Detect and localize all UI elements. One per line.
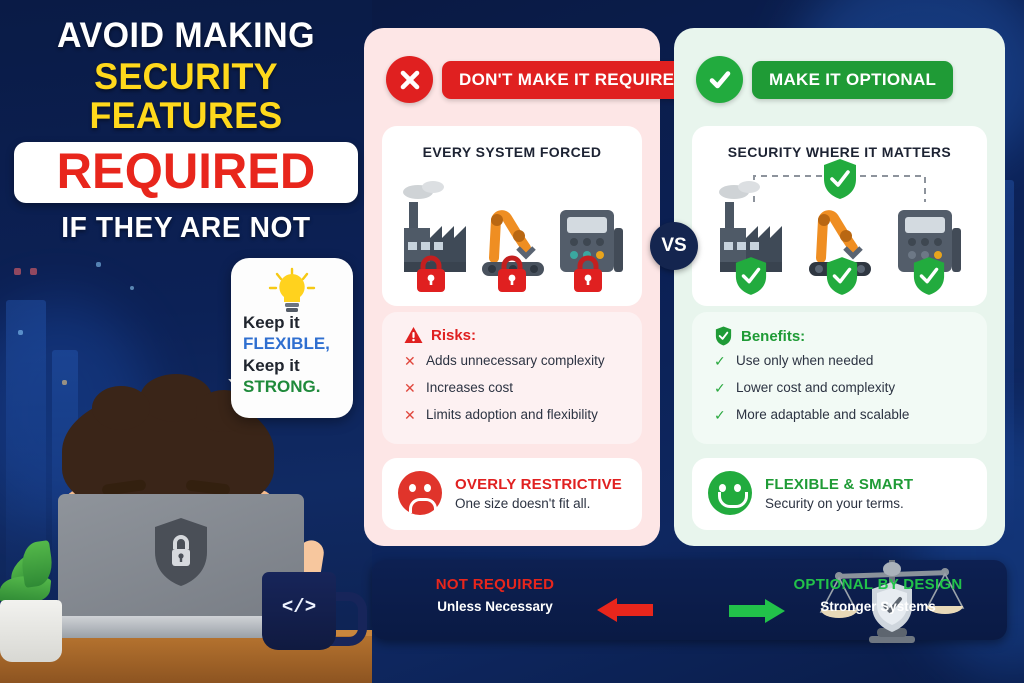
happy-face-icon	[708, 471, 752, 515]
list-item-label: Limits adoption and flexibility	[426, 406, 598, 424]
list-item-label: Use only when needed	[736, 352, 873, 370]
panel-right-cta-title: FLEXIBLE & SMART	[765, 476, 913, 493]
robot-arm-unit-shielded	[801, 176, 879, 296]
infographic-canvas: AVOID MAKING SECURITY FEATURES REQUIRED …	[0, 0, 1024, 683]
warning-triangle-icon	[404, 326, 423, 344]
speech-bubble-text: Keep it FLEXIBLE, Keep it STRONG.	[243, 312, 347, 398]
panel-left-tag-label: DON'T MAKE IT REQUIRED	[442, 61, 704, 99]
check-circle-icon	[696, 56, 743, 103]
panel-left-illustration-box: EVERY SYSTEM FORCED	[382, 126, 642, 306]
banner-right-block: OPTIONAL BY DESIGN Stronger Systems	[773, 576, 983, 614]
headline-block: AVOID MAKING SECURITY FEATURES REQUIRED …	[14, 18, 358, 245]
green-shield-check-icon	[825, 256, 859, 296]
list-item-label: More adaptable and scalable	[736, 406, 909, 424]
lightbulb-icon	[263, 266, 321, 316]
panel-right-tag-row: MAKE IT OPTIONAL	[696, 56, 953, 103]
list-item-label: Adds unnecessary complexity	[426, 352, 605, 370]
headline-line-1: AVOID MAKING	[19, 18, 353, 54]
shield-lock-icon	[152, 516, 210, 588]
bubble-line-2: FLEXIBLE,	[243, 333, 347, 354]
list-item: ✓ Lower cost and complexity	[714, 379, 977, 398]
banner-left-subtitle: Unless Necessary	[400, 599, 590, 614]
sad-face-icon	[398, 471, 442, 515]
bubble-line-3: Keep it	[243, 355, 347, 376]
headline-line-2: SECURITY FEATURES	[19, 58, 353, 136]
green-shield-check-icon	[912, 256, 946, 296]
check-mark-icon: ✓	[714, 352, 726, 371]
robot-arm-unit-locked	[474, 176, 552, 296]
panel-right-cta-subtitle: Security on your terms.	[765, 496, 913, 511]
check-mark-icon: ✓	[714, 406, 726, 425]
control-panel-unit-locked	[552, 176, 630, 296]
green-shield-check-icon	[734, 256, 768, 296]
headline-line-4: IF THEY ARE NOT	[19, 212, 353, 245]
x-circle-icon	[386, 56, 433, 103]
panel-left-cta-box: OVERLY RESTRICTIVE One size doesn't fit …	[382, 458, 642, 530]
panel-left-list-title: Risks:	[431, 327, 476, 344]
panel-left-list-header: Risks:	[404, 326, 476, 344]
potted-plant-icon	[0, 600, 62, 662]
list-item: ✓ More adaptable and scalable	[714, 406, 977, 425]
panel-right-illustration-box: SECURITY WHERE IT MATTERS	[692, 126, 987, 306]
list-item: ✕ Limits adoption and flexibility	[404, 406, 632, 425]
list-item-label: Lower cost and complexity	[736, 379, 895, 397]
panel-left-tag-row: DON'T MAKE IT REQUIRED	[386, 56, 704, 103]
banner-right-title: OPTIONAL BY DESIGN	[773, 576, 983, 593]
vs-badge: VS	[650, 222, 698, 270]
x-mark-icon: ✕	[404, 379, 416, 398]
panel-left-risks-box: Risks: ✕ Adds unnecessary complexity ✕ I…	[382, 312, 642, 444]
red-padlock-icon	[570, 254, 606, 294]
panel-left-list-items: ✕ Adds unnecessary complexity ✕ Increase…	[404, 352, 632, 433]
list-item: ✕ Increases cost	[404, 379, 632, 398]
headline-line-3: REQUIRED	[25, 147, 346, 196]
panel-right-list-header: Benefits:	[714, 326, 805, 346]
mug-code-text: </>	[262, 596, 336, 618]
control-panel-unit-shielded	[890, 176, 968, 296]
factory-unit-locked	[396, 176, 474, 296]
panel-right-tag-label: MAKE IT OPTIONAL	[752, 61, 953, 99]
x-mark-icon: ✕	[404, 406, 416, 425]
headline-highlight-band: REQUIRED	[14, 142, 358, 203]
panel-right-cta-box: FLEXIBLE & SMART Security on your terms.	[692, 458, 987, 530]
shield-check-icon	[714, 326, 733, 346]
panel-left-cta-subtitle: One size doesn't fit all.	[455, 496, 622, 511]
panel-right-benefits-box: Benefits: ✓ Use only when needed ✓ Lower…	[692, 312, 987, 444]
factory-unit-shielded	[712, 176, 790, 296]
speech-bubble: Keep it FLEXIBLE, Keep it STRONG.	[231, 258, 353, 418]
x-mark-icon: ✕	[404, 352, 416, 371]
banner-left-title: NOT REQUIRED	[400, 576, 590, 593]
list-item: ✕ Adds unnecessary complexity	[404, 352, 632, 371]
check-mark-icon: ✓	[714, 379, 726, 398]
panel-right-list-items: ✓ Use only when needed ✓ Lower cost and …	[714, 352, 977, 433]
bubble-line-1: Keep it	[243, 312, 347, 333]
list-item: ✓ Use only when needed	[714, 352, 977, 371]
red-padlock-icon	[494, 254, 530, 294]
list-item-label: Increases cost	[426, 379, 513, 397]
summary-banner: NOT REQUIRED Unless Necessary OPTION	[372, 560, 1007, 640]
bubble-line-4: STRONG.	[243, 376, 347, 397]
panel-left-cta-title: OVERLY RESTRICTIVE	[455, 476, 622, 493]
banner-right-subtitle: Stronger Systems	[773, 599, 983, 614]
red-padlock-icon	[413, 254, 449, 294]
panel-left-illustration-title: EVERY SYSTEM FORCED	[382, 144, 642, 160]
banner-left-block: NOT REQUIRED Unless Necessary	[400, 576, 590, 614]
panel-right-list-title: Benefits:	[741, 328, 805, 345]
arrow-left-icon	[597, 596, 655, 624]
